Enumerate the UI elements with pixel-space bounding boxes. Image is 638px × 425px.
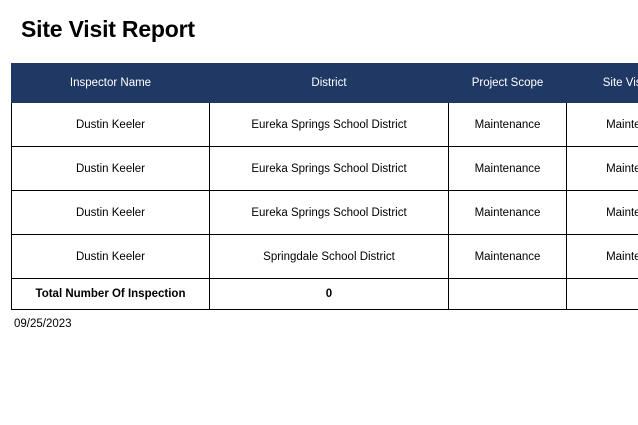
cell-total-site-visit-type (567, 279, 638, 310)
cell-inspector-name: Dustin Keeler (12, 147, 210, 191)
cell-district: Eureka Springs School District (210, 103, 449, 147)
table-row: Dustin Keeler Eureka Springs School Dist… (12, 191, 638, 235)
report-date: 09/25/2023 (14, 318, 72, 330)
table-row: Dustin Keeler Springdale School District… (12, 235, 638, 279)
column-header-inspector-name[interactable]: Inspector Name (12, 64, 210, 103)
cell-district: Springdale School District (210, 235, 449, 279)
cell-site-visit-type: Maintenance (567, 191, 638, 235)
table-body: Dustin Keeler Eureka Springs School Dist… (12, 103, 638, 310)
report-table-container: Inspector Name District Project Scope Si… (11, 63, 638, 310)
cell-total-label: Total Number Of Inspection (12, 279, 210, 310)
table-header-row: Inspector Name District Project Scope Si… (12, 64, 638, 103)
cell-total-project-scope (449, 279, 567, 310)
column-header-site-visit-type[interactable]: Site Visit Type (567, 64, 638, 103)
table-row: Dustin Keeler Eureka Springs School Dist… (12, 103, 638, 147)
cell-project-scope: Maintenance (449, 235, 567, 279)
table-header: Inspector Name District Project Scope Si… (12, 64, 638, 103)
page-title: Site Visit Report (21, 15, 195, 43)
cell-district: Eureka Springs School District (210, 147, 449, 191)
column-header-project-scope[interactable]: Project Scope (449, 64, 567, 103)
cell-district: Eureka Springs School District (210, 191, 449, 235)
cell-site-visit-type: Maintenance (567, 103, 638, 147)
table-total-row: Total Number Of Inspection 0 (12, 279, 638, 310)
cell-site-visit-type: Maintenance (567, 235, 638, 279)
column-header-district[interactable]: District (210, 64, 449, 103)
cell-site-visit-type: Maintenance (567, 147, 638, 191)
table-row: Dustin Keeler Eureka Springs School Dist… (12, 147, 638, 191)
cell-project-scope: Maintenance (449, 147, 567, 191)
cell-project-scope: Maintenance (449, 103, 567, 147)
report-page: Site Visit Report Inspector Name Distric… (0, 0, 638, 425)
site-visit-report-table: Inspector Name District Project Scope Si… (11, 63, 638, 310)
cell-project-scope: Maintenance (449, 191, 567, 235)
cell-total-value: 0 (210, 279, 449, 310)
cell-inspector-name: Dustin Keeler (12, 103, 210, 147)
cell-inspector-name: Dustin Keeler (12, 191, 210, 235)
cell-inspector-name: Dustin Keeler (12, 235, 210, 279)
